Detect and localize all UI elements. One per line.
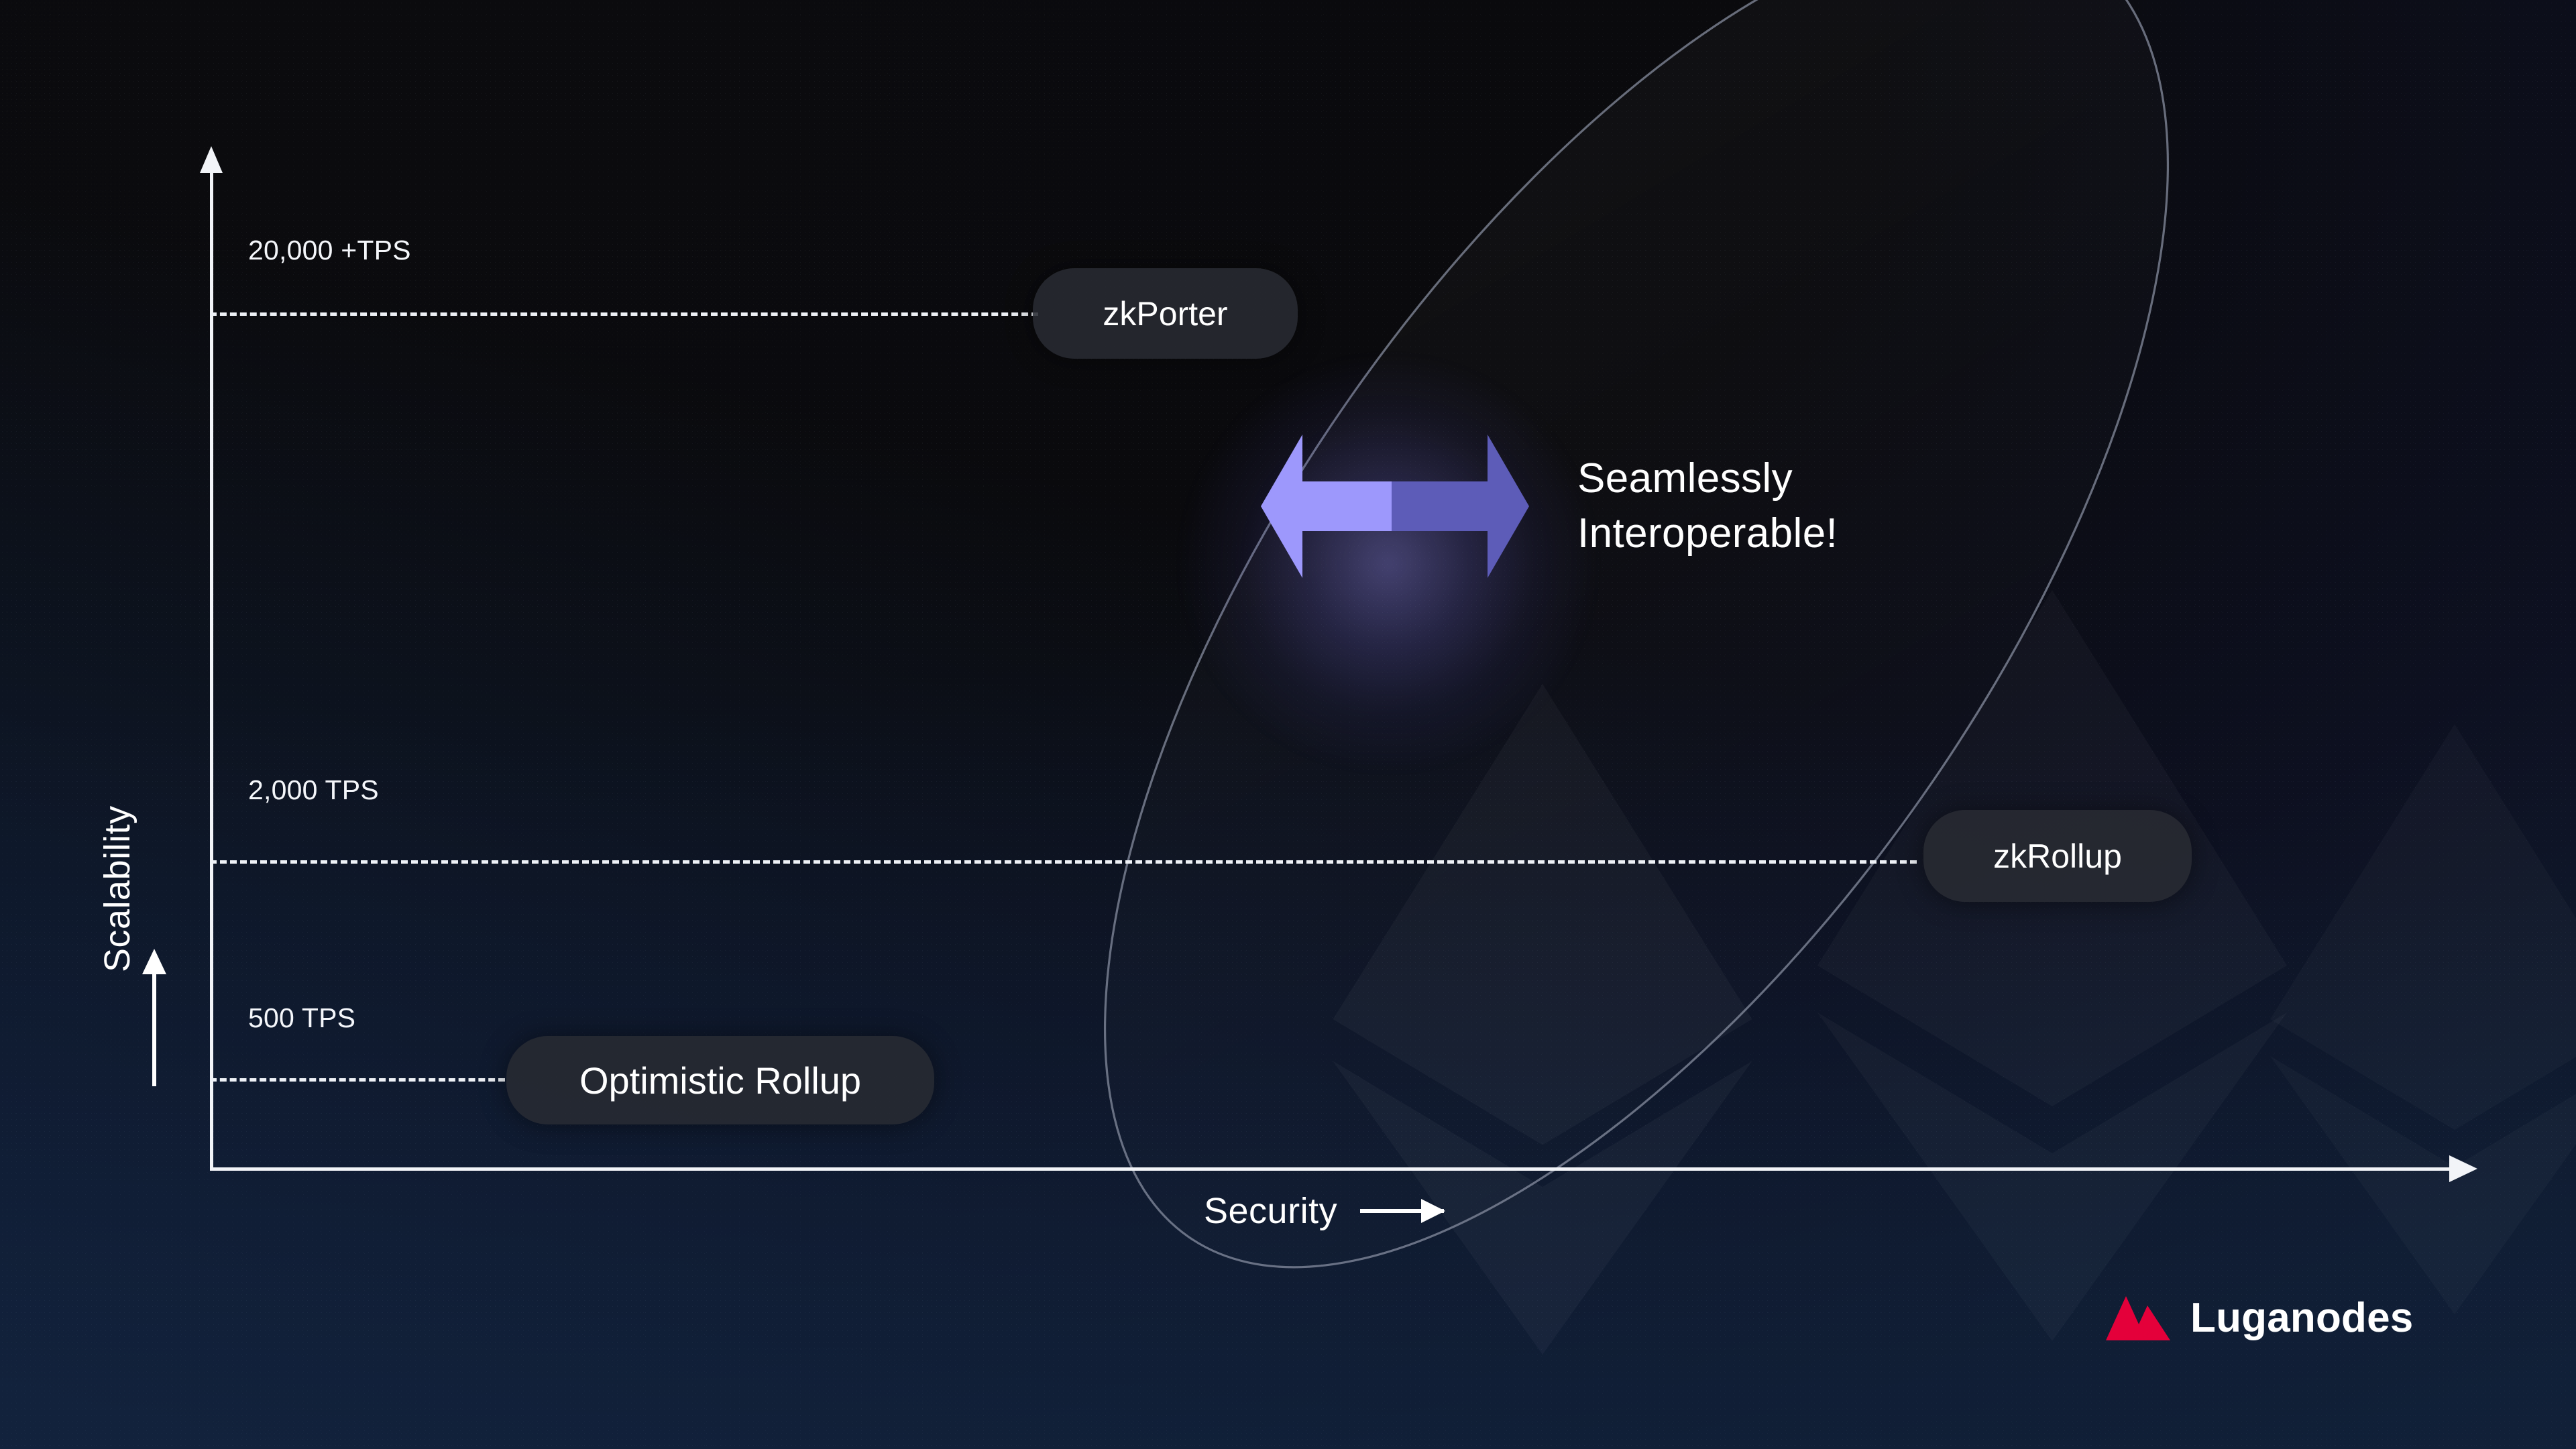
infographic-canvas: 20,000 +TPS 2,000 TPS 500 TPS Scalabilit… [0, 0, 2576, 1449]
interoperable-annotation: Seamlessly Interoperable! [1261, 429, 1838, 583]
y-axis-title-label: Scalability [97, 805, 138, 972]
node-label-optimistic-rollup: Optimistic Rollup [579, 1059, 861, 1102]
y-axis-arrowhead-icon [200, 146, 223, 173]
node-pill-zkporter[interactable]: zkPorter [1033, 268, 1298, 359]
node-label-zkrollup: zkRollup [1993, 837, 2122, 876]
gridline-20000-tps [210, 312, 1038, 316]
luganodes-mountain-icon [2106, 1296, 2170, 1340]
tick-label-2000-tps: 2,000 TPS [248, 774, 379, 806]
y-axis-title-arrow-shaft [152, 969, 156, 1086]
x-axis-line [210, 1167, 2470, 1171]
node-pill-optimistic-rollup[interactable]: Optimistic Rollup [506, 1036, 934, 1124]
tick-label-20000-tps: 20,000 +TPS [248, 235, 411, 266]
tick-label-500-tps: 500 TPS [248, 1002, 355, 1034]
luganodes-wordmark: Luganodes [2190, 1294, 2413, 1342]
bidirectional-arrows-icon [1261, 429, 1529, 583]
interoperable-label: Seamlessly Interoperable! [1577, 451, 1838, 561]
node-pill-zkrollup[interactable]: zkRollup [1923, 810, 2192, 902]
x-axis-arrowhead-icon [2449, 1155, 2477, 1182]
x-axis-title-group: Security [1204, 1190, 1444, 1232]
gridline-500-tps [210, 1078, 505, 1082]
luganodes-logo[interactable]: Luganodes [2106, 1294, 2413, 1342]
arrow-right-icon [1360, 1209, 1444, 1213]
node-label-zkporter: zkPorter [1103, 294, 1227, 333]
y-axis-line [210, 169, 213, 1171]
x-axis-title-label: Security [1204, 1190, 1337, 1232]
gridline-2000-tps [210, 860, 1917, 864]
